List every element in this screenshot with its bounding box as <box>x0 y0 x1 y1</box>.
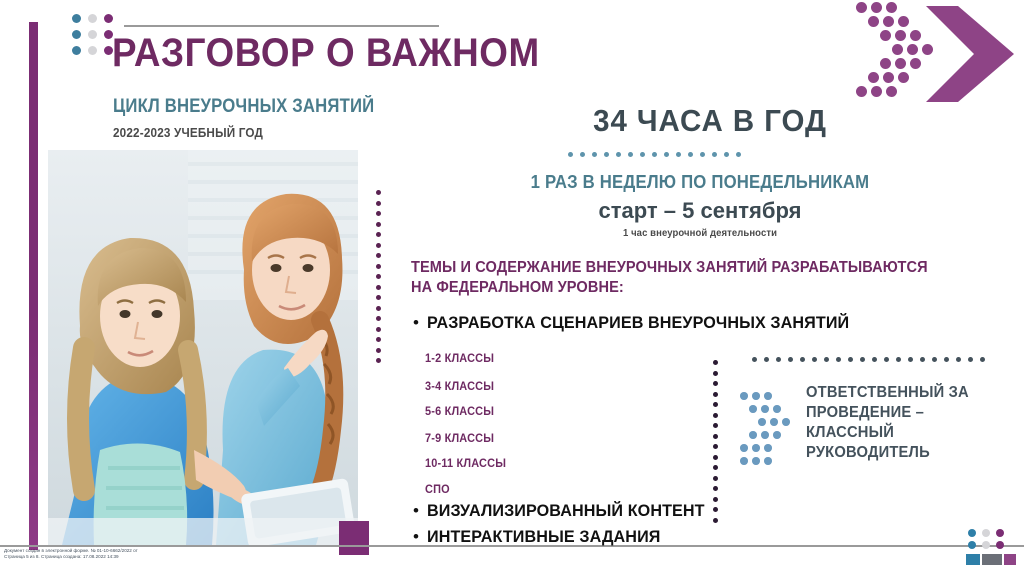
arrow-dot <box>740 392 748 400</box>
logo-dot <box>88 30 97 39</box>
photo-illustration <box>48 150 358 545</box>
chevron-dot <box>886 86 897 97</box>
chevron-dot <box>871 2 882 13</box>
arrow-dot <box>764 457 772 465</box>
arrow-dot <box>752 444 760 452</box>
divider-dot <box>713 413 718 418</box>
chevron-dot <box>868 72 879 83</box>
arrow-dot <box>770 418 778 426</box>
responsible-line-4: РУКОВОДИТЕЛЬ <box>806 443 996 463</box>
logo-wordmark <box>966 554 1016 565</box>
arrow-dot <box>764 392 772 400</box>
chevron-dot <box>910 58 921 69</box>
divider-dot <box>896 357 901 362</box>
divider-dot <box>688 152 693 157</box>
divider-dot <box>812 357 817 362</box>
divider-dot <box>932 357 937 362</box>
divider-dot <box>872 357 877 362</box>
logo-dots-icon <box>968 529 1012 551</box>
hour-note-text: 1 час внеурочной деятельности <box>415 228 985 240</box>
hours-headline: 34 ЧАСА В ГОД <box>425 104 995 138</box>
stamp-line-2: Страница 5 из 8. Страница создана: 17.08… <box>4 554 254 560</box>
divider-dot <box>713 507 718 512</box>
arrow-dot <box>740 444 748 452</box>
divider-dot <box>712 152 717 157</box>
chevron-dot <box>880 30 891 41</box>
divider-dot <box>736 152 741 157</box>
page-subtitle: ЦИКЛ ВНЕУРОЧНЫХ ЗАНЯТИЙ <box>113 97 374 117</box>
chevron-dot <box>895 30 906 41</box>
divider-dot <box>944 357 949 362</box>
start-date-text: старт – 5 сентября <box>400 198 1000 224</box>
divider-dot <box>713 486 718 491</box>
divider-dot <box>713 465 718 470</box>
divider-dot <box>676 152 681 157</box>
logo-dot <box>968 541 976 549</box>
academic-year-label: 2022-2023 УЧЕБНЫЙ ГОД <box>113 126 263 140</box>
responsible-text: ОТВЕТСТВЕННЫЙ ЗА ПРОВЕДЕНИЕ – КЛАССНЫЙ Р… <box>806 383 996 463</box>
divider-dot <box>788 357 793 362</box>
divider-dot <box>713 402 718 407</box>
arrow-dot <box>761 431 769 439</box>
dots-divider-top <box>568 152 741 157</box>
bullet-marker-icon: • <box>413 501 419 520</box>
chevron-dot <box>856 2 867 13</box>
chevron-dot <box>883 72 894 83</box>
title-divider-rule <box>124 25 439 27</box>
chevron-dot <box>871 86 882 97</box>
divider-dot <box>652 152 657 157</box>
grade-item-3: 5-6 КЛАССЫ <box>425 406 494 419</box>
grade-item-2: 3-4 КЛАССЫ <box>425 381 494 394</box>
dotted-divider-right <box>713 360 718 523</box>
arrow-dot <box>773 431 781 439</box>
arrow-dot <box>782 418 790 426</box>
divider-dot <box>980 357 985 362</box>
logo-dot <box>968 529 976 537</box>
chevron-dot <box>880 58 891 69</box>
arrow-dot <box>752 392 760 400</box>
logo-dot <box>72 14 81 23</box>
logo-dot <box>72 46 81 55</box>
divider-dot <box>713 371 718 376</box>
bullet-item-2: • ВИЗУАЛИЗИРОВАННЫЙ КОНТЕНТ <box>413 501 719 520</box>
divider-dot <box>713 476 718 481</box>
divider-dot <box>616 152 621 157</box>
arrow-dot <box>749 431 757 439</box>
logo-dot <box>996 541 1004 549</box>
divider-dot <box>640 152 645 157</box>
document-stamp: Документ создан в электронной форме. № 0… <box>4 548 254 560</box>
logo-dot <box>996 529 1004 537</box>
arrow-dot <box>764 444 772 452</box>
divider-dot <box>376 222 381 227</box>
frequency-text: 1 РАЗ В НЕДЕЛЮ ПО ПОНЕДЕЛЬНИКАМ <box>421 172 979 192</box>
divider-dot <box>376 264 381 269</box>
divider-dot <box>376 348 381 353</box>
bottom-right-logo <box>962 529 1018 571</box>
page-title: РАЗГОВОР О ВАЖНОМ <box>112 33 540 73</box>
divider-dot <box>713 518 718 523</box>
arrow-dot <box>740 457 748 465</box>
divider-dot <box>664 152 669 157</box>
divider-dot <box>713 360 718 365</box>
divider-dot <box>713 381 718 386</box>
logo-dot <box>982 541 990 549</box>
arrow-dot <box>761 405 769 413</box>
photo-corner-square <box>339 521 369 555</box>
divider-dot <box>376 316 381 321</box>
divider-dot <box>376 285 381 290</box>
bullet-label: ВИЗУАЛИЗИРОВАННЫЙ КОНТЕНТ <box>427 501 705 520</box>
divider-dot <box>580 152 585 157</box>
chevron-dot <box>898 16 909 27</box>
slide-canvas: РАЗГОВОР О ВАЖНОМ ЦИКЛ ВНЕУРОЧНЫХ ЗАНЯТИ… <box>0 0 1024 576</box>
logo-dot <box>104 14 113 23</box>
grade-item-1: 1-2 КЛАССЫ <box>425 353 494 366</box>
divider-dot <box>824 357 829 362</box>
divider-dot <box>920 357 925 362</box>
divider-dot <box>376 327 381 332</box>
bullet-label: РАЗРАБОТКА СЦЕНАРИЕВ ВНЕУРОЧНЫХ ЗАНЯТИЙ <box>427 313 849 332</box>
divider-dot <box>776 357 781 362</box>
divider-dot <box>376 358 381 363</box>
divider-dot <box>884 357 889 362</box>
left-accent-bar <box>29 22 38 550</box>
students-photo <box>48 150 358 545</box>
responsible-line-3: КЛАССНЫЙ <box>806 423 996 443</box>
chevron-dot <box>895 58 906 69</box>
arrow-dot-grid-icon <box>740 392 792 468</box>
responsible-line-1: ОТВЕТСТВЕННЫЙ ЗА <box>806 383 996 403</box>
divider-dot <box>700 152 705 157</box>
divider-dot <box>376 232 381 237</box>
chevron-dot <box>868 16 879 27</box>
chevron-dot <box>886 2 897 13</box>
divider-dot <box>713 423 718 428</box>
topics-heading: ТЕМЫ И СОДЕРЖАНИЕ ВНЕУРОЧНЫХ ЗАНЯТИЙ РАЗ… <box>411 258 947 298</box>
chevron-dot <box>898 72 909 83</box>
responsible-line-2: ПРОВЕДЕНИЕ – <box>806 403 996 423</box>
bullet-item-1: • РАЗРАБОТКА СЦЕНАРИЕВ ВНЕУРОЧНЫХ ЗАНЯТИ… <box>413 313 871 332</box>
grade-item-4: 7-9 КЛАССЫ <box>425 433 494 446</box>
chevron-dot <box>856 86 867 97</box>
divider-dot <box>376 243 381 248</box>
divider-dot <box>764 357 769 362</box>
divider-dot <box>592 152 597 157</box>
divider-dot <box>376 274 381 279</box>
logo-dot <box>982 529 990 537</box>
chevron-dot <box>910 30 921 41</box>
divider-dot <box>568 152 573 157</box>
divider-dot <box>376 190 381 195</box>
divider-dot <box>713 444 718 449</box>
chevron-dot <box>907 44 918 55</box>
chevron-dot <box>883 16 894 27</box>
arrow-dot <box>749 405 757 413</box>
divider-dot <box>376 295 381 300</box>
divider-dot <box>713 434 718 439</box>
grade-item-5: 10-11 КЛАССЫ <box>425 458 506 471</box>
divider-dot <box>800 357 805 362</box>
divider-dot <box>713 497 718 502</box>
chevron-arrow-icon <box>924 2 1016 106</box>
chevron-dot <box>892 44 903 55</box>
divider-dot <box>713 392 718 397</box>
divider-dot <box>376 337 381 342</box>
logo-dot <box>88 14 97 23</box>
grade-item-6: СПО <box>425 484 450 497</box>
divider-dot <box>848 357 853 362</box>
dots-divider-responsible <box>752 357 985 362</box>
arrow-dot <box>752 457 760 465</box>
bullet-item-3: • ИНТЕРАКТИВНЫЕ ЗАДАНИЯ <box>413 527 673 546</box>
divider-dot <box>908 357 913 362</box>
divider-dot <box>752 357 757 362</box>
divider-dot <box>860 357 865 362</box>
logo-dot <box>72 30 81 39</box>
divider-dot <box>376 211 381 216</box>
divider-dot <box>628 152 633 157</box>
dotted-divider-left <box>376 190 381 363</box>
arrow-dot <box>758 418 766 426</box>
bullet-label: ИНТЕРАКТИВНЫЕ ЗАДАНИЯ <box>427 527 660 546</box>
divider-dot <box>604 152 609 157</box>
chevron-arrow-graphic <box>856 2 1016 107</box>
divider-dot <box>968 357 973 362</box>
divider-dot <box>376 253 381 258</box>
divider-dot <box>713 455 718 460</box>
divider-dot <box>724 152 729 157</box>
bullet-marker-icon: • <box>413 313 419 332</box>
divider-dot <box>376 306 381 311</box>
divider-dot <box>836 357 841 362</box>
divider-dot <box>956 357 961 362</box>
arrow-dot <box>773 405 781 413</box>
bullet-marker-icon: • <box>413 527 419 546</box>
chevron-dot <box>922 44 933 55</box>
logo-dot <box>88 46 97 55</box>
divider-dot <box>376 201 381 206</box>
